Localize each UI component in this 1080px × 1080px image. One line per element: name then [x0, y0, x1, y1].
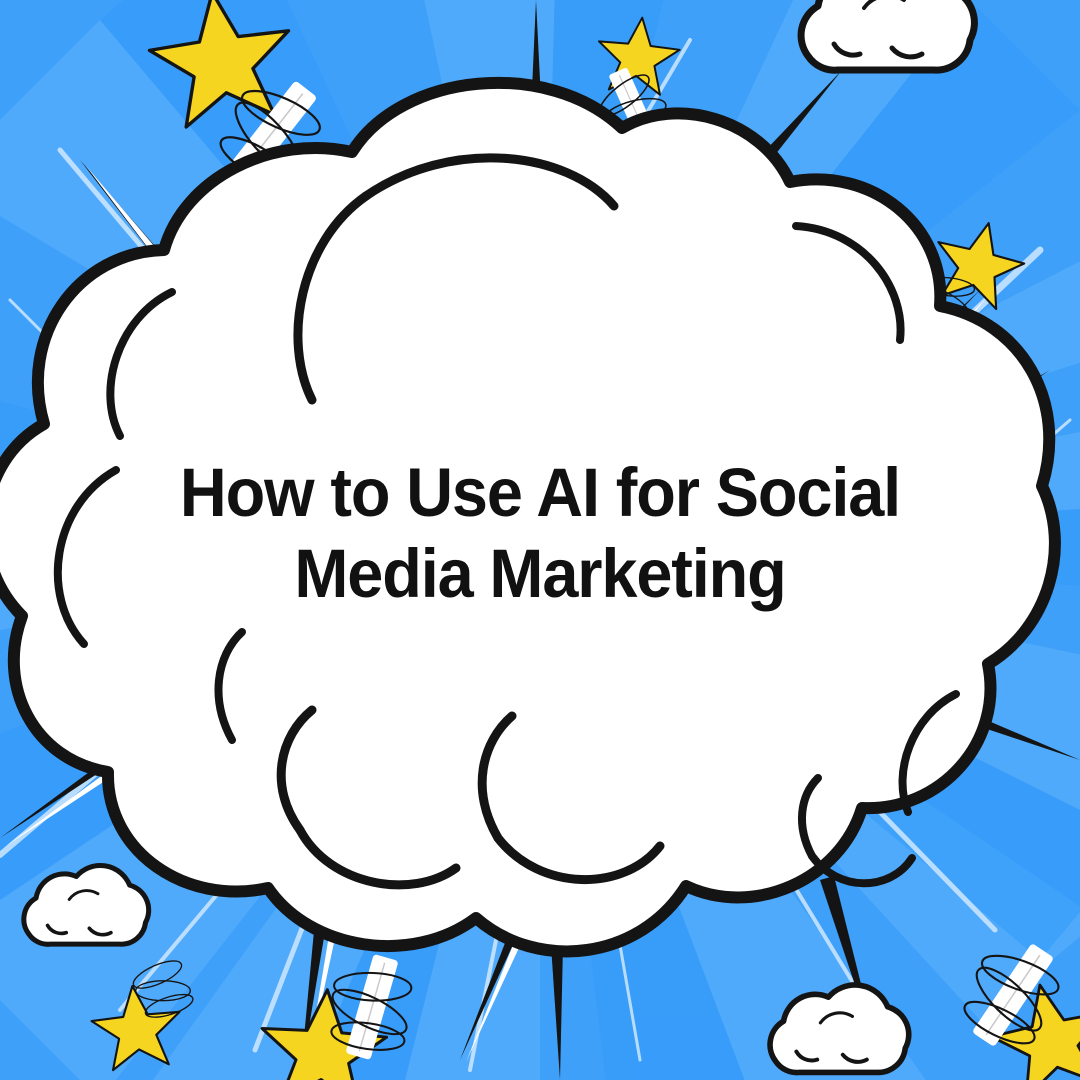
speech-bubble-outline	[0, 83, 1055, 952]
comic-poster-canvas: How to Use AI for Social Media Marketing	[0, 0, 1080, 1080]
speech-bubble	[0, 0, 1080, 1080]
speech-bubble-body	[0, 83, 1055, 952]
